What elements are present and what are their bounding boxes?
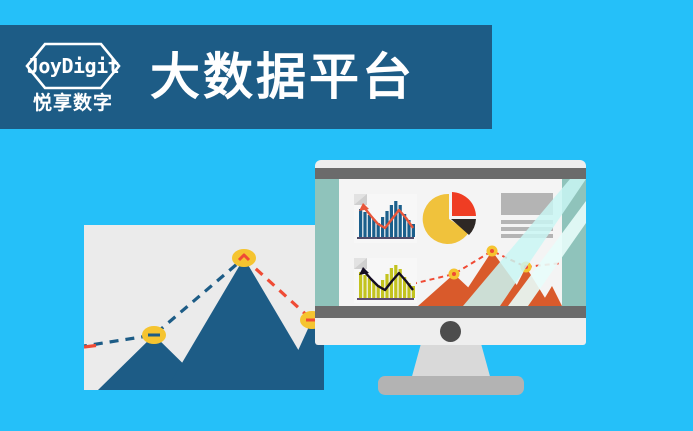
monitor-stand-neck (411, 345, 491, 380)
power-button-icon[interactable] (440, 321, 461, 342)
orange-mountain-chart[interactable] (416, 234, 562, 306)
blue-bar-line-chart-card[interactable] (354, 194, 417, 243)
marker-center (490, 249, 494, 253)
marker-center (452, 272, 456, 276)
header-banner: JoyDigit 悦享数字 大数据平台 (0, 25, 492, 129)
gray-text-placeholder (501, 193, 553, 235)
brand-logo: JoyDigit 悦享数字 (14, 42, 132, 113)
mountain-chart-panel (84, 225, 324, 390)
monitor-body (315, 160, 586, 345)
monitor-bottom-strip (315, 306, 586, 318)
olive-bar-line-chart-card[interactable] (354, 258, 417, 303)
marker-center (524, 265, 528, 269)
monitor-screen (315, 179, 586, 306)
monitor-top-strip (315, 168, 586, 179)
mountain-line-chart (84, 225, 324, 390)
data-point-marker (232, 249, 256, 267)
monitor-stand-base (378, 376, 524, 395)
placeholder-text-line (501, 220, 553, 224)
hexagon-icon: JoyDigit (25, 42, 121, 90)
brand-logo-text-cn: 悦享数字 (33, 94, 113, 113)
page-title: 大数据平台 (150, 52, 415, 102)
placeholder-text-line (501, 227, 553, 231)
trend-line-tail (84, 346, 96, 348)
desktop-monitor (315, 160, 586, 385)
brand-logo-text-en: JoyDigit (25, 56, 121, 76)
pie-slice-b (452, 192, 476, 216)
poster-canvas: JoyDigit 悦享数字 大数据平台 (0, 0, 693, 431)
placeholder-image-block (501, 193, 553, 215)
